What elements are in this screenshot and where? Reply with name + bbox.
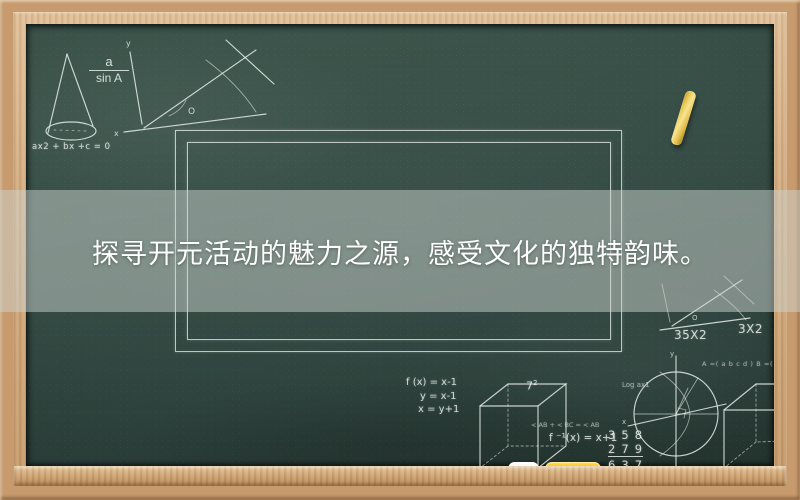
blackboard-scene: a sin A y x O ax2 + bx +c = 0 O: [0, 0, 800, 500]
caption-headline: 探寻开元活动的魅力之源，感受文化的独特韵味。: [0, 190, 800, 312]
chalk-tray-ledge: [14, 466, 786, 486]
